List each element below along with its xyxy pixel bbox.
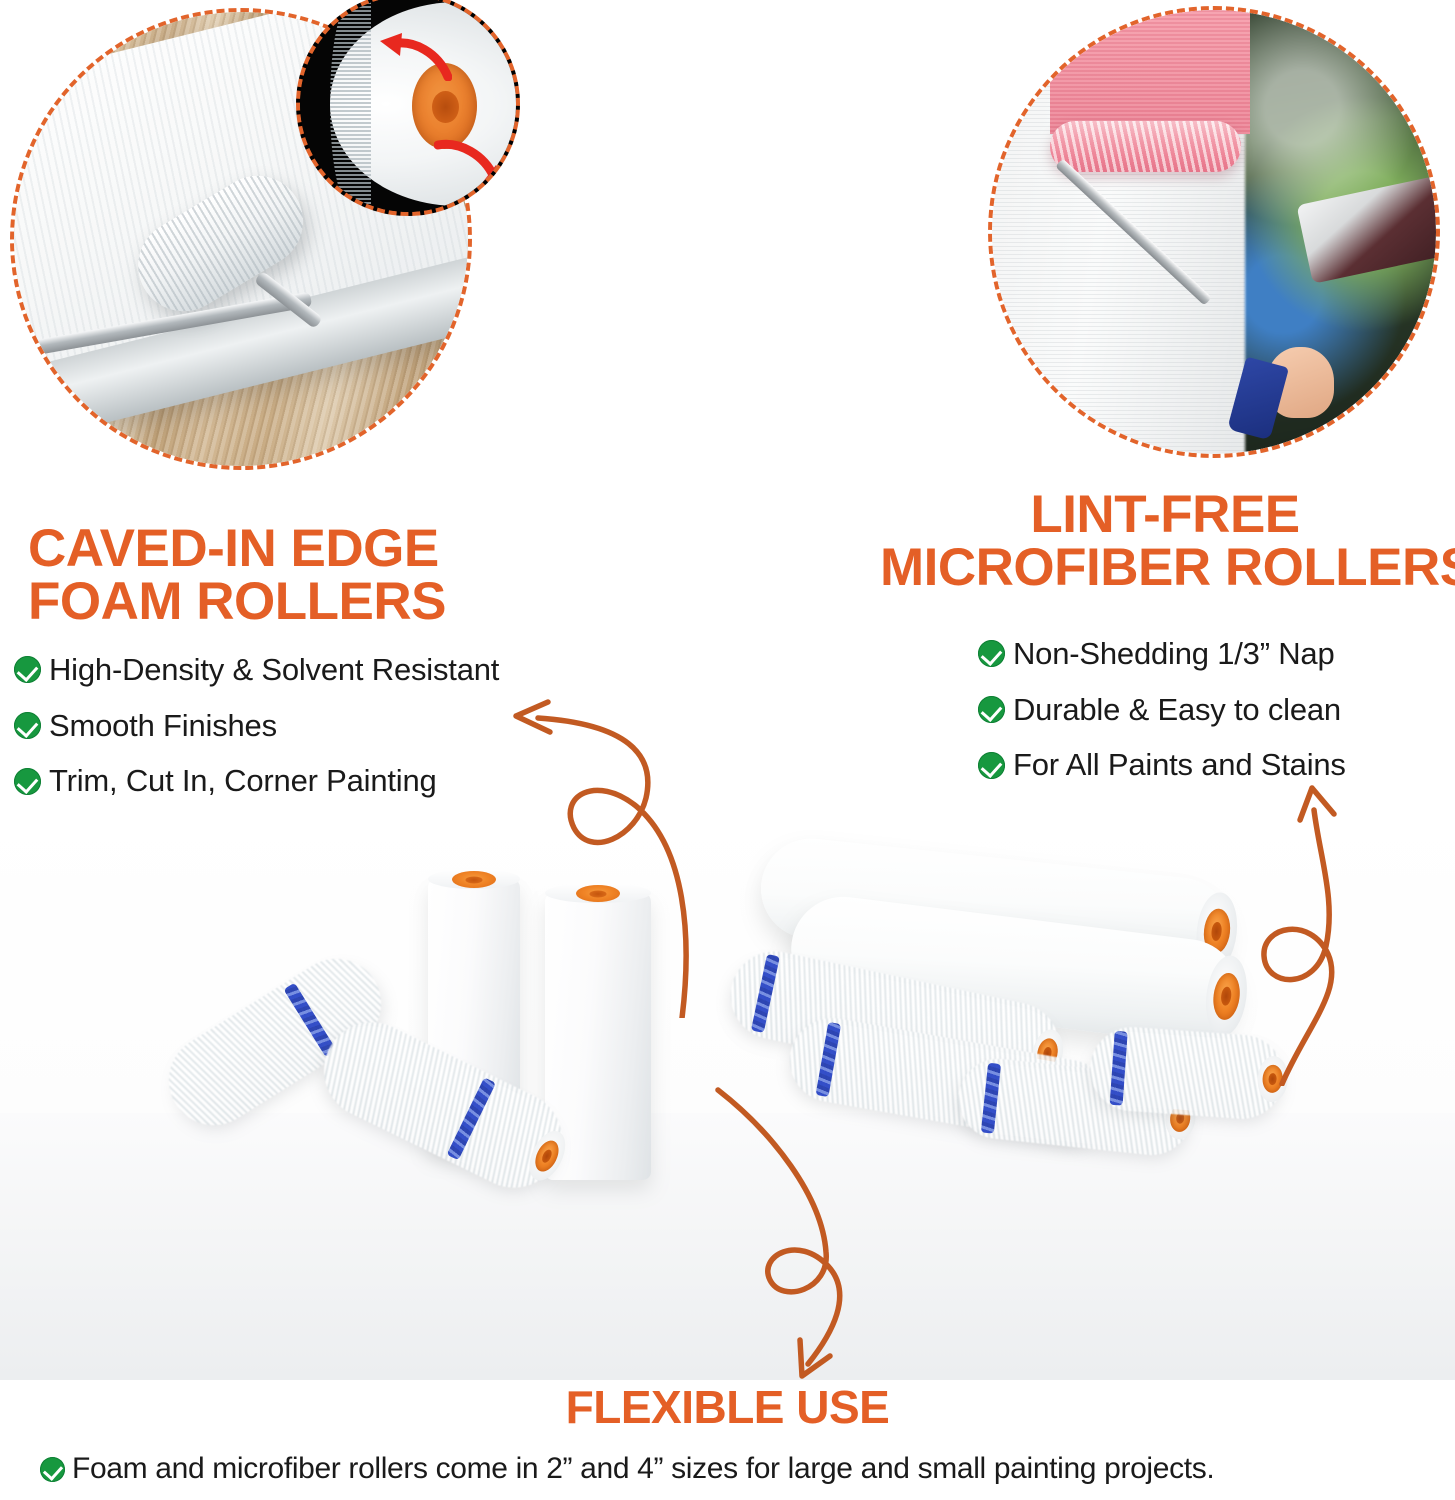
product-infographic: CAVED-IN EDGE FOAM ROLLERS LINT-FREE MIC… [0, 0, 1455, 1500]
list-item: Non-Shedding 1/3” Nap [978, 636, 1448, 672]
orange-end-cap [452, 871, 496, 888]
product-hero-photo [0, 800, 1455, 1380]
photo-right-inner [992, 10, 1436, 454]
check-circle-icon [978, 696, 1005, 723]
list-item: High-Density & Solvent Resistant [14, 652, 634, 688]
pink-roller-body [1050, 121, 1241, 172]
check-circle-icon [14, 712, 41, 739]
list-item: For All Paints and Stains [978, 747, 1448, 783]
list-item-label: For All Paints and Stains [1013, 747, 1346, 783]
photo-microfiber-roller-wall [988, 6, 1440, 458]
check-circle-icon [978, 640, 1005, 667]
list-item-label: Non-Shedding 1/3” Nap [1013, 636, 1335, 672]
orange-end-cap [576, 885, 620, 902]
list-item-label: Trim, Cut In, Corner Painting [49, 763, 437, 799]
photo-inset-roller-edge-closeup [296, 0, 520, 216]
check-circle-icon [40, 1457, 65, 1482]
feature-list-microfiber-rollers: Non-Shedding 1/3” Nap Durable & Easy to … [978, 636, 1448, 803]
heading-bottom-line-1: FLEXIBLE USE [0, 1384, 1455, 1430]
heading-left-line-2: FOAM ROLLERS [28, 575, 548, 628]
heading-left-line-1: CAVED-IN EDGE [28, 522, 548, 575]
orange-end-cap [1202, 953, 1252, 1038]
feature-list-foam-rollers: High-Density & Solvent Resistant Smooth … [14, 652, 634, 819]
list-item: Smooth Finishes [14, 708, 634, 744]
check-circle-icon [14, 656, 41, 683]
rotation-arrow-down-icon [434, 139, 508, 191]
list-item-label: Smooth Finishes [49, 708, 277, 744]
check-circle-icon [14, 768, 41, 795]
pink-paint-area [1050, 10, 1250, 134]
heading-right-line-2: MICROFIBER ROLLERS [880, 541, 1450, 594]
list-item-label: High-Density & Solvent Resistant [49, 652, 499, 688]
product-surface [0, 1113, 1455, 1380]
heading-caved-in-edge-foam-rollers: CAVED-IN EDGE FOAM ROLLERS [28, 522, 548, 628]
heading-lint-free-microfiber-rollers: LINT-FREE MICROFIBER ROLLERS [880, 488, 1450, 594]
microfiber-roller-right-4 [1090, 1029, 1285, 1116]
list-item-label: Foam and microfiber rollers come in 2” a… [72, 1452, 1214, 1487]
rotation-arrow-up-icon [378, 31, 452, 81]
feature-list-flexible-use: Foam and microfiber rollers come in 2” a… [40, 1452, 1440, 1487]
list-item: Durable & Easy to clean [978, 692, 1448, 728]
list-item-label: Durable & Easy to clean [1013, 692, 1341, 728]
check-circle-icon [978, 752, 1005, 779]
list-item: Trim, Cut In, Corner Painting [14, 763, 634, 799]
heading-flexible-use: FLEXIBLE USE [0, 1384, 1455, 1430]
heading-right-line-1: LINT-FREE [880, 488, 1450, 541]
